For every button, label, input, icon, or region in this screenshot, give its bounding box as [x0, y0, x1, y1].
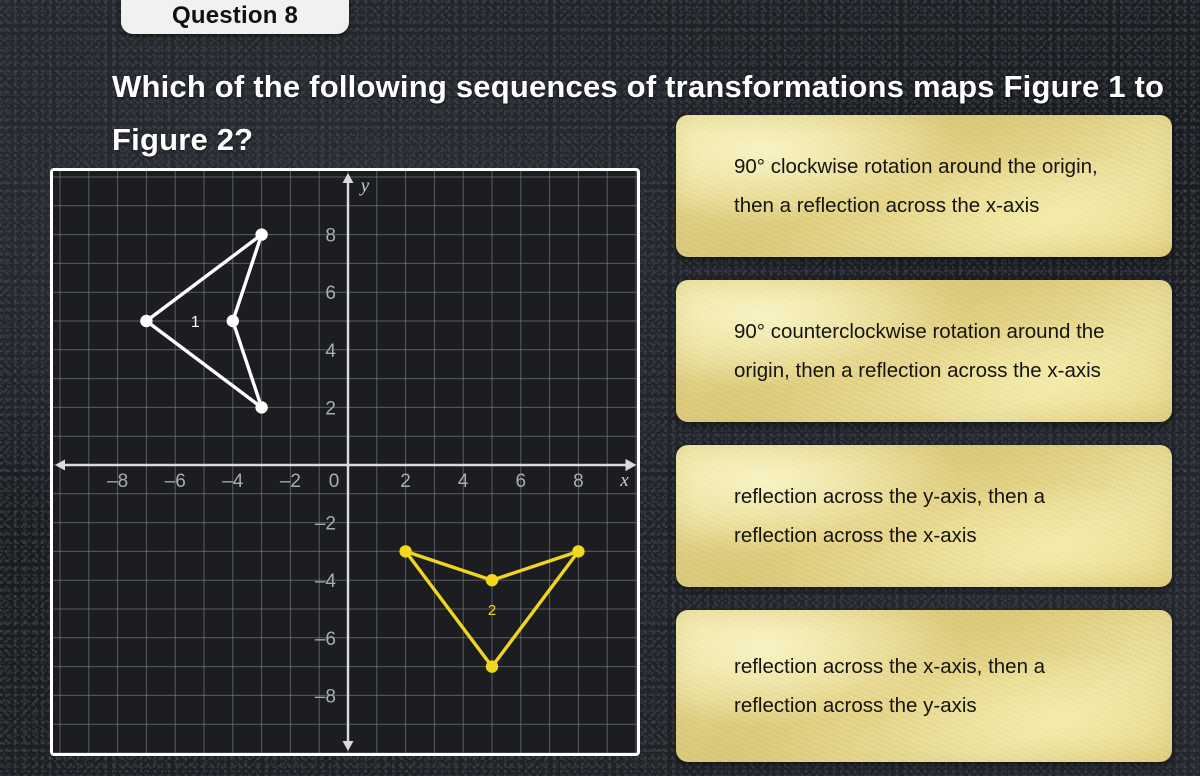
graph-canvas: xy–8–6–4–224680–8–6–4–2246812 — [53, 171, 637, 753]
figure-2-label: 2 — [488, 602, 496, 619]
x-tick-label: 4 — [458, 471, 469, 492]
x-axis-label: x — [619, 470, 629, 491]
axes — [55, 173, 633, 751]
y-tick-label: –4 — [315, 571, 337, 592]
answer-option-a-label: 90° clockwise rotation around the origin… — [734, 147, 1114, 226]
y-tick-label: 4 — [325, 341, 336, 362]
x-tick-label: 8 — [573, 471, 584, 492]
answer-option-c-label: reflection across the y-axis, then a ref… — [734, 477, 1114, 556]
y-axis-arrow-down — [343, 741, 354, 751]
figure-1-vertex — [140, 315, 152, 327]
answer-option-b[interactable]: 90° counterclockwise rotation around the… — [676, 280, 1172, 422]
answer-option-c[interactable]: reflection across the y-axis, then a ref… — [676, 445, 1172, 587]
y-tick-label: 8 — [325, 226, 336, 247]
y-tick-label: –2 — [315, 514, 336, 535]
y-axis-arrow-up — [343, 173, 354, 183]
figure-1-vertex — [255, 401, 267, 413]
answer-option-d-label: reflection across the x-axis, then a ref… — [734, 647, 1114, 726]
x-tick-label: –4 — [222, 471, 244, 492]
x-tick-label: –8 — [107, 471, 128, 492]
x-tick-label: 6 — [516, 471, 527, 492]
figure-1-vertex — [227, 315, 239, 327]
figure-2-vertex — [486, 574, 498, 586]
origin-tick-label: 0 — [329, 471, 340, 492]
y-tick-label: –6 — [315, 629, 336, 650]
question-number-badge: Question 8 — [121, 0, 349, 34]
figure-1-label: 1 — [191, 314, 200, 331]
figure-2-vertex — [486, 660, 498, 672]
y-tick-label: 6 — [325, 283, 336, 304]
answer-option-b-label: 90° counterclockwise rotation around the… — [734, 312, 1114, 391]
x-tick-label: 2 — [400, 471, 411, 492]
y-tick-label: 2 — [325, 398, 336, 419]
axis-letters: xy — [359, 175, 629, 491]
figure-2-vertex — [572, 545, 584, 557]
figure-1-vertex — [255, 228, 267, 240]
x-tick-label: –2 — [280, 471, 301, 492]
figure-2-vertex — [399, 545, 411, 557]
answer-option-d[interactable]: reflection across the x-axis, then a ref… — [676, 610, 1172, 762]
coordinate-graph: xy–8–6–4–224680–8–6–4–2246812 — [50, 168, 640, 756]
grid-lines — [53, 171, 637, 753]
answer-option-a[interactable]: 90° clockwise rotation around the origin… — [676, 115, 1172, 257]
y-axis-label: y — [359, 175, 370, 196]
x-tick-label: –6 — [165, 471, 186, 492]
question-number-label: Question 8 — [172, 2, 298, 30]
y-tick-label: –8 — [315, 686, 336, 707]
